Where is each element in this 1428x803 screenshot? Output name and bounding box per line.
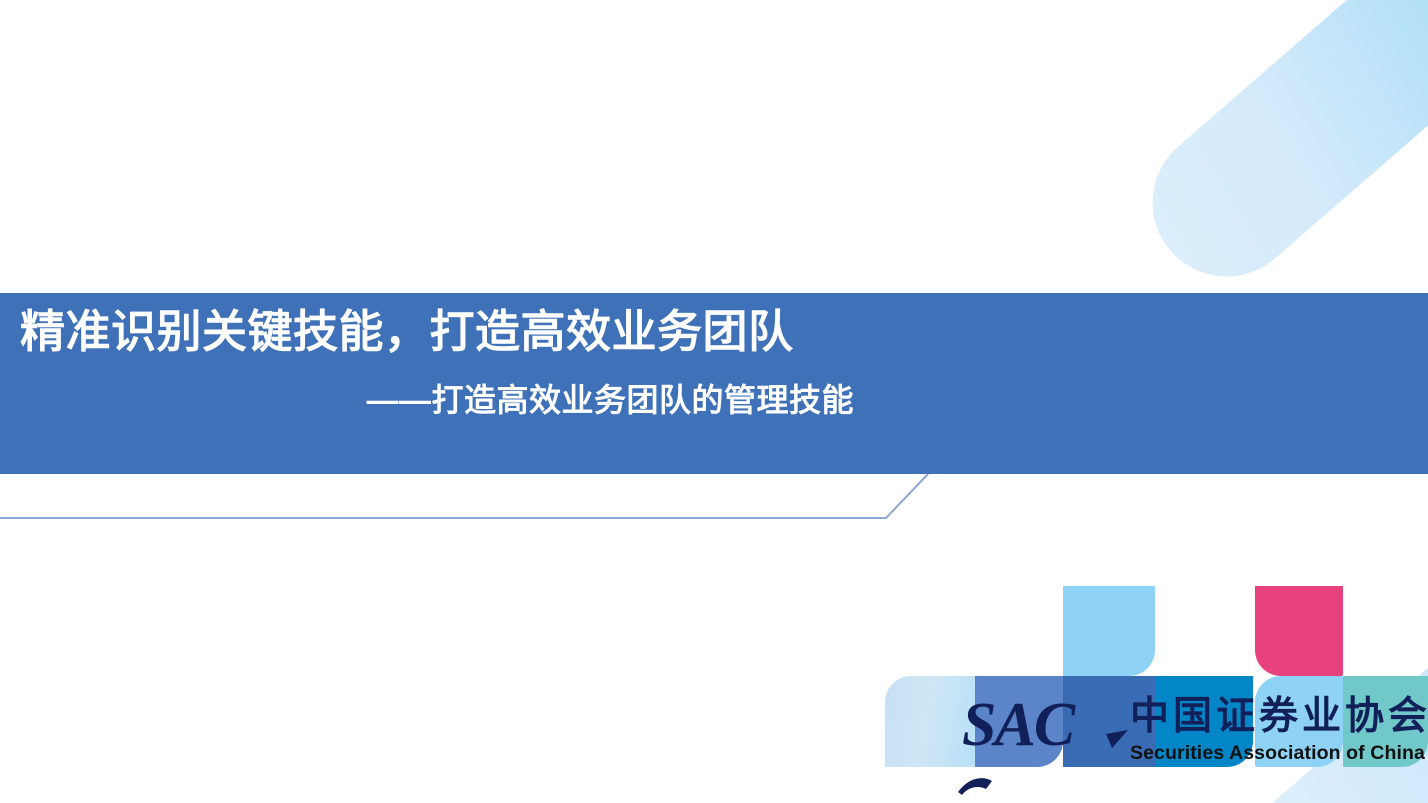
sac-wordmark: SAC [962,694,1073,756]
diagonal-capsule-top-right [1122,0,1428,307]
page-title: 精准识别关键技能，打造高效业务团队 [20,308,794,357]
block-pink [1255,586,1343,676]
sac-logo: SAC 中国证券业协会 Securities Association of Ch… [962,694,1398,774]
block-light-blue-upper [1063,586,1155,676]
title-slide: 精准识别关键技能，打造高效业务团队 ——打造高效业务团队的管理技能 SAC 中国… [0,0,1428,803]
title-band: 精准识别关键技能，打造高效业务团队 ——打造高效业务团队的管理技能 [0,293,1428,474]
sac-chinese-name: 中国证券业协会 [1130,696,1428,738]
page-subtitle: ——打造高效业务团队的管理技能 [366,383,854,418]
title-text-group: 精准识别关键技能，打造高效业务团队 ——打造高效业务团队的管理技能 [0,293,890,474]
sac-english-name: Securities Association of China [1130,742,1425,764]
